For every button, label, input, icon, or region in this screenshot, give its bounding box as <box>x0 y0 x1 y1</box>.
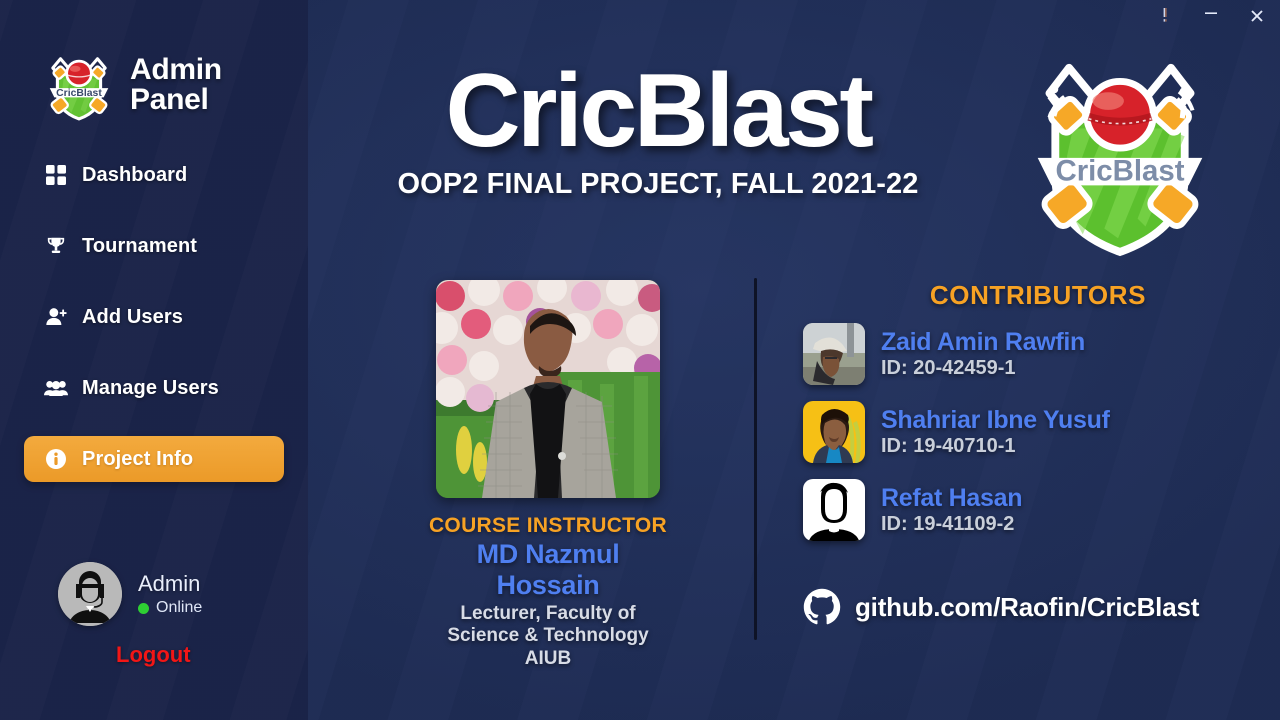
contributor-name: Shahriar Ibne Yusuf <box>881 407 1110 434</box>
contributor-name: Zaid Amin Rawfin <box>881 329 1085 356</box>
hero: CricBlast OOP2 FINAL PROJECT, FALL 2021-… <box>308 62 1008 201</box>
minimize-icon <box>1203 5 1219 21</box>
contributor-id: ID: 20-42459-1 <box>881 356 1085 380</box>
trophy-icon <box>44 234 68 258</box>
svg-text:CricBlast: CricBlast <box>56 88 102 99</box>
contributors-title: CONTRIBUTORS <box>803 280 1273 311</box>
contributor-avatar <box>803 323 865 385</box>
brand-line-1: Admin <box>130 55 222 85</box>
users-icon <box>44 376 68 400</box>
main-content: CricBlast OOP2 FINAL PROJECT, FALL 2021-… <box>308 0 1280 720</box>
info-button[interactable] <box>1142 1 1188 31</box>
contributor-meta: Refat Hasan ID: 19-41109-2 <box>881 485 1022 536</box>
instructor-name: MD Nazmul Hossain <box>428 539 668 601</box>
cricblast-shield-logo-icon: CricBlast <box>1022 46 1218 260</box>
sidebar-nav: Dashboard Tournament <box>0 152 308 507</box>
close-icon <box>1249 8 1265 24</box>
github-icon <box>803 588 841 626</box>
svg-text:CricBlast: CricBlast <box>1055 154 1184 187</box>
minimize-button[interactable] <box>1188 1 1234 31</box>
github-link[interactable]: github.com/Raofin/CricBlast <box>803 588 1199 626</box>
instructor-dept-line-2: Science & Technology <box>428 625 668 647</box>
contributor-meta: Zaid Amin Rawfin ID: 20-42459-1 <box>881 329 1085 380</box>
brand-line-2: Panel <box>130 85 222 115</box>
page-subtitle: OOP2 FINAL PROJECT, FALL 2021-22 <box>308 168 1008 201</box>
contributor-row: Shahriar Ibne Yusuf ID: 19-40710-1 <box>803 401 1273 463</box>
sidebar-item-dashboard[interactable]: Dashboard <box>24 152 284 198</box>
window-controls <box>1142 0 1280 32</box>
contributor-name: Refat Hasan <box>881 485 1022 512</box>
grid-icon <box>44 163 68 187</box>
profile-meta: Admin Online <box>138 571 202 617</box>
contributor-row: Zaid Amin Rawfin ID: 20-42459-1 <box>803 323 1273 385</box>
instructor-role: COURSE INSTRUCTOR <box>428 514 668 538</box>
online-dot-icon <box>138 603 149 614</box>
contributors-list: Zaid Amin Rawfin ID: 20-42459-1 <box>803 323 1273 541</box>
sidebar-item-tournament[interactable]: Tournament <box>24 223 284 269</box>
exclamation-icon <box>1159 7 1171 25</box>
sidebar: CricBlast Admin Panel Dashboard <box>0 0 308 720</box>
instructor-dept-line-1: Lecturer, Faculty of <box>428 603 668 625</box>
contributors-section: CONTRIBUTORS <box>803 280 1273 557</box>
sidebar-item-label: Add Users <box>82 306 183 329</box>
contributor-avatar <box>803 401 865 463</box>
info-circle-icon <box>44 447 68 471</box>
brand: CricBlast Admin Panel <box>40 48 222 122</box>
sidebar-item-add-users[interactable]: Add Users <box>24 294 284 340</box>
vertical-divider <box>754 278 757 640</box>
admin-avatar-icon <box>58 562 122 626</box>
logout-button[interactable]: Logout <box>116 642 191 668</box>
contributor-meta: Shahriar Ibne Yusuf ID: 19-40710-1 <box>881 407 1110 458</box>
sidebar-item-label: Dashboard <box>82 164 187 187</box>
brand-title: Admin Panel <box>130 55 222 115</box>
close-button[interactable] <box>1234 1 1280 31</box>
instructor-photo <box>436 280 660 498</box>
sidebar-item-label: Manage Users <box>82 377 219 400</box>
profile-status-label: Online <box>156 599 202 617</box>
page-title: CricBlast <box>308 62 1008 162</box>
user-add-icon <box>44 305 68 329</box>
instructor-card: COURSE INSTRUCTOR MD Nazmul Hossain Lect… <box>428 280 668 670</box>
contributor-id: ID: 19-40710-1 <box>881 434 1110 458</box>
contributor-id: ID: 19-41109-2 <box>881 512 1022 536</box>
cricblast-logo-icon: CricBlast <box>40 48 118 122</box>
instructor-dept: Lecturer, Faculty of Science & Technolog… <box>428 603 668 670</box>
app-window: CricBlast Admin Panel Dashboard <box>0 0 1280 720</box>
sidebar-item-label: Tournament <box>82 235 197 258</box>
sidebar-item-manage-users[interactable]: Manage Users <box>24 365 284 411</box>
github-url-label: github.com/Raofin/CricBlast <box>855 592 1199 623</box>
contributor-row: Refat Hasan ID: 19-41109-2 <box>803 479 1273 541</box>
profile-name: Admin <box>138 571 202 597</box>
profile-status: Online <box>138 599 202 617</box>
contributor-avatar <box>803 479 865 541</box>
instructor-dept-line-3: AIUB <box>428 648 668 670</box>
sidebar-item-project-info[interactable]: Project Info <box>24 436 284 482</box>
profile[interactable]: Admin Online <box>58 562 202 626</box>
sidebar-item-label: Project Info <box>82 448 193 471</box>
